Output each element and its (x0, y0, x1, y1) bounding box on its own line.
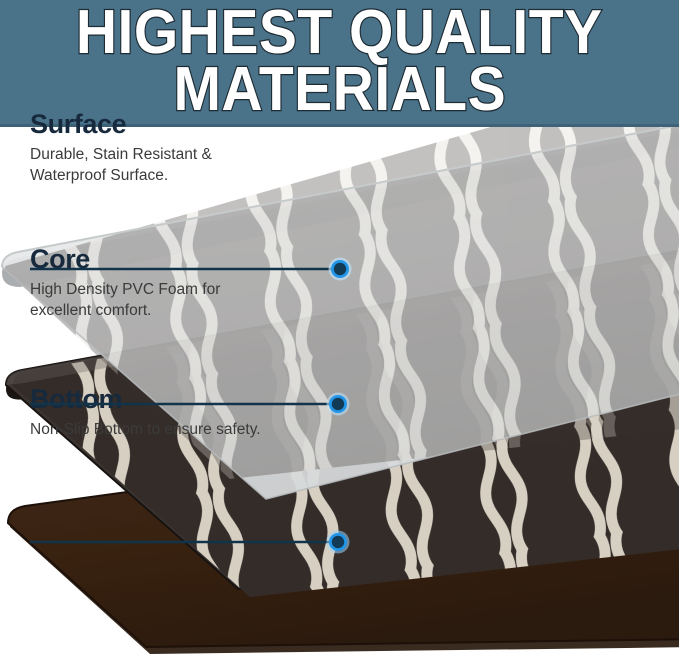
infographic-root: HIGHEST QUALITY MATERIALS (0, 0, 679, 654)
header-banner-inner: HIGHEST QUALITY MATERIALS (0, 0, 679, 124)
header-banner: HIGHEST QUALITY MATERIALS (0, 0, 679, 127)
callout-bottom-title: Bottom (30, 385, 330, 416)
callout-core: Core High Density PVC Foam for excellent… (30, 245, 330, 321)
callout-surface: Surface Durable, Stain Resistant & Water… (30, 110, 330, 186)
callout-core-title: Core (30, 245, 330, 276)
callout-surface-description: Durable, Stain Resistant & Waterproof Su… (30, 145, 330, 186)
callout-core-description: High Density PVC Foam for excellent comf… (30, 280, 330, 321)
callout-bottom: Bottom Non-Slip Bottom to ensure safety. (30, 385, 330, 441)
callout-surface-title: Surface (30, 110, 330, 141)
callout-bottom-description: Non-Slip Bottom to ensure safety. (30, 420, 330, 440)
